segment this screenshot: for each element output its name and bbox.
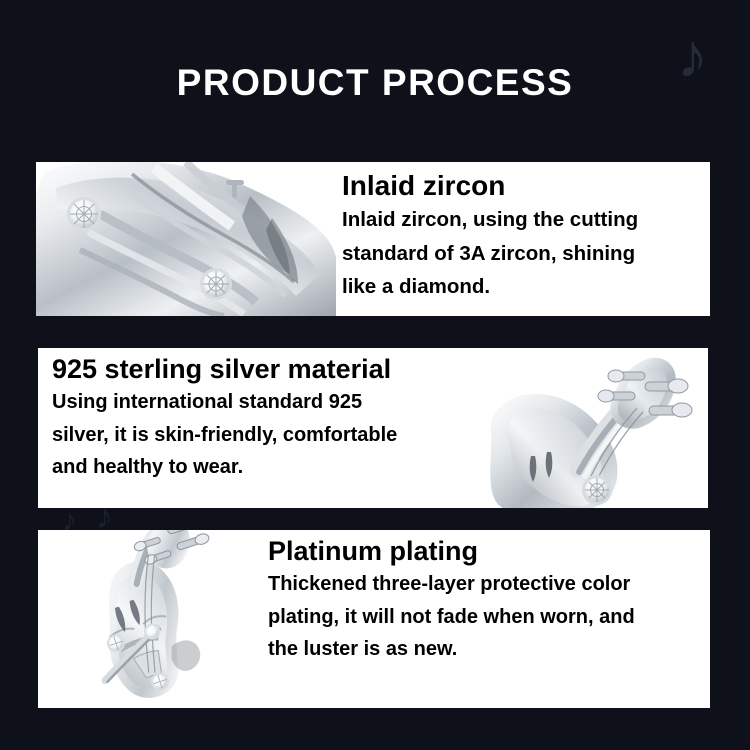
feature-body-line: like a diamond. bbox=[342, 270, 700, 303]
feature-copy-inlaid-zircon: Inlaid zircon Inlaid zircon, using the c… bbox=[336, 162, 710, 316]
feature-body-line: plating, it will not fade when worn, and bbox=[268, 601, 700, 633]
feature-body: Inlaid zircon, using the cutting standar… bbox=[342, 203, 700, 303]
feature-image-inlaid-zircon bbox=[36, 162, 336, 316]
feature-panel-platinum-plating: Platinum plating Thickened three-layer p… bbox=[38, 530, 710, 708]
feature-body: Using international standard 925 silver,… bbox=[52, 386, 463, 483]
feature-panel-inlaid-zircon: Inlaid zircon Inlaid zircon, using the c… bbox=[36, 162, 710, 316]
feature-body-line: silver, it is skin-friendly, comfortable bbox=[52, 419, 463, 451]
feature-heading: Platinum plating bbox=[268, 536, 700, 567]
page-title: PRODUCT PROCESS bbox=[0, 62, 750, 104]
feature-image-platinum-plating bbox=[38, 530, 260, 708]
feature-body-line: Using international standard 925 bbox=[52, 386, 463, 418]
feature-body-line: Inlaid zircon, using the cutting bbox=[342, 203, 700, 236]
feature-panel-sterling-silver: 925 sterling silver material Using inter… bbox=[38, 348, 708, 508]
feature-body: Thickened three-layer protective color p… bbox=[268, 568, 700, 665]
feature-heading: 925 sterling silver material bbox=[52, 354, 463, 385]
feature-heading: Inlaid zircon bbox=[342, 170, 700, 202]
feature-copy-platinum-plating: Platinum plating Thickened three-layer p… bbox=[260, 530, 710, 708]
feature-copy-sterling-silver: 925 sterling silver material Using inter… bbox=[38, 348, 473, 508]
feature-body-line: Thickened three-layer protective color bbox=[268, 568, 700, 600]
feature-body-line: the luster is as new. bbox=[268, 633, 700, 665]
feature-image-sterling-silver bbox=[473, 348, 708, 508]
feature-body-line: standard of 3A zircon, shining bbox=[342, 237, 700, 270]
feature-body-line: and healthy to wear. bbox=[52, 451, 463, 483]
